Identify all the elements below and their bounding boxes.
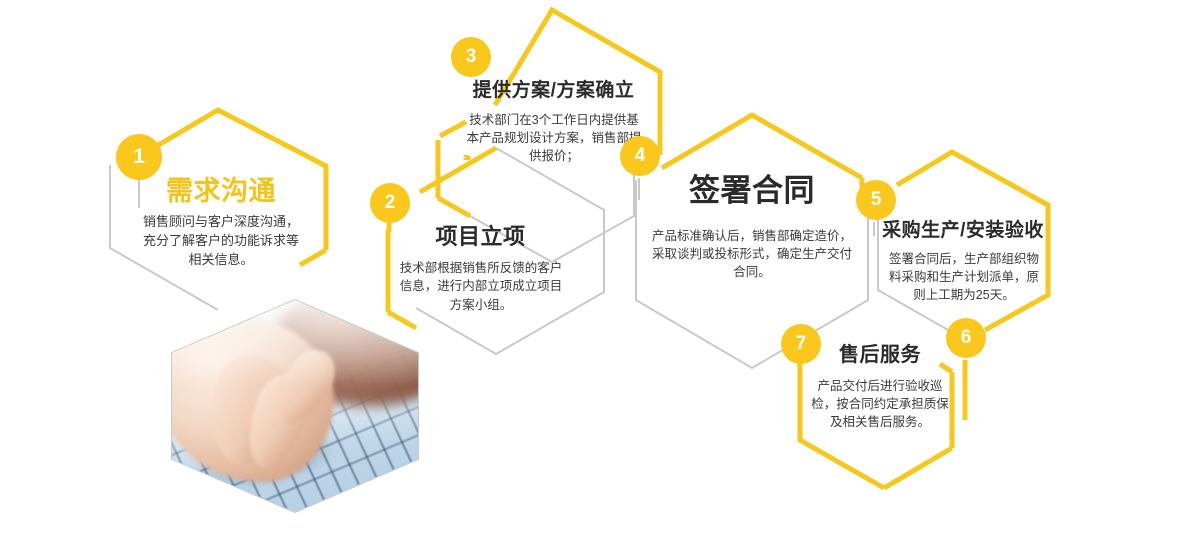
badge-step-1[interactable]: 1	[116, 134, 162, 180]
badge-step-6[interactable]: 6	[946, 318, 986, 358]
laptop-typing-photo	[172, 300, 418, 512]
hexagon-step-7	[700, 345, 952, 488]
hexagon-step-4	[636, 115, 868, 368]
badge-step-4[interactable]: 4	[620, 136, 660, 176]
hexagon-step-5	[878, 152, 1048, 330]
badge-step-3[interactable]: 3	[451, 37, 491, 77]
badge-step-2[interactable]: 2	[370, 183, 410, 223]
badge-step-7[interactable]: 7	[781, 324, 821, 364]
badge-step-5[interactable]: 5	[856, 180, 896, 220]
process-infographic: 1 需求沟通 销售顾问与客户深度沟通，充分了解客户的功能诉求等相关信息。 2 项…	[0, 0, 1188, 550]
